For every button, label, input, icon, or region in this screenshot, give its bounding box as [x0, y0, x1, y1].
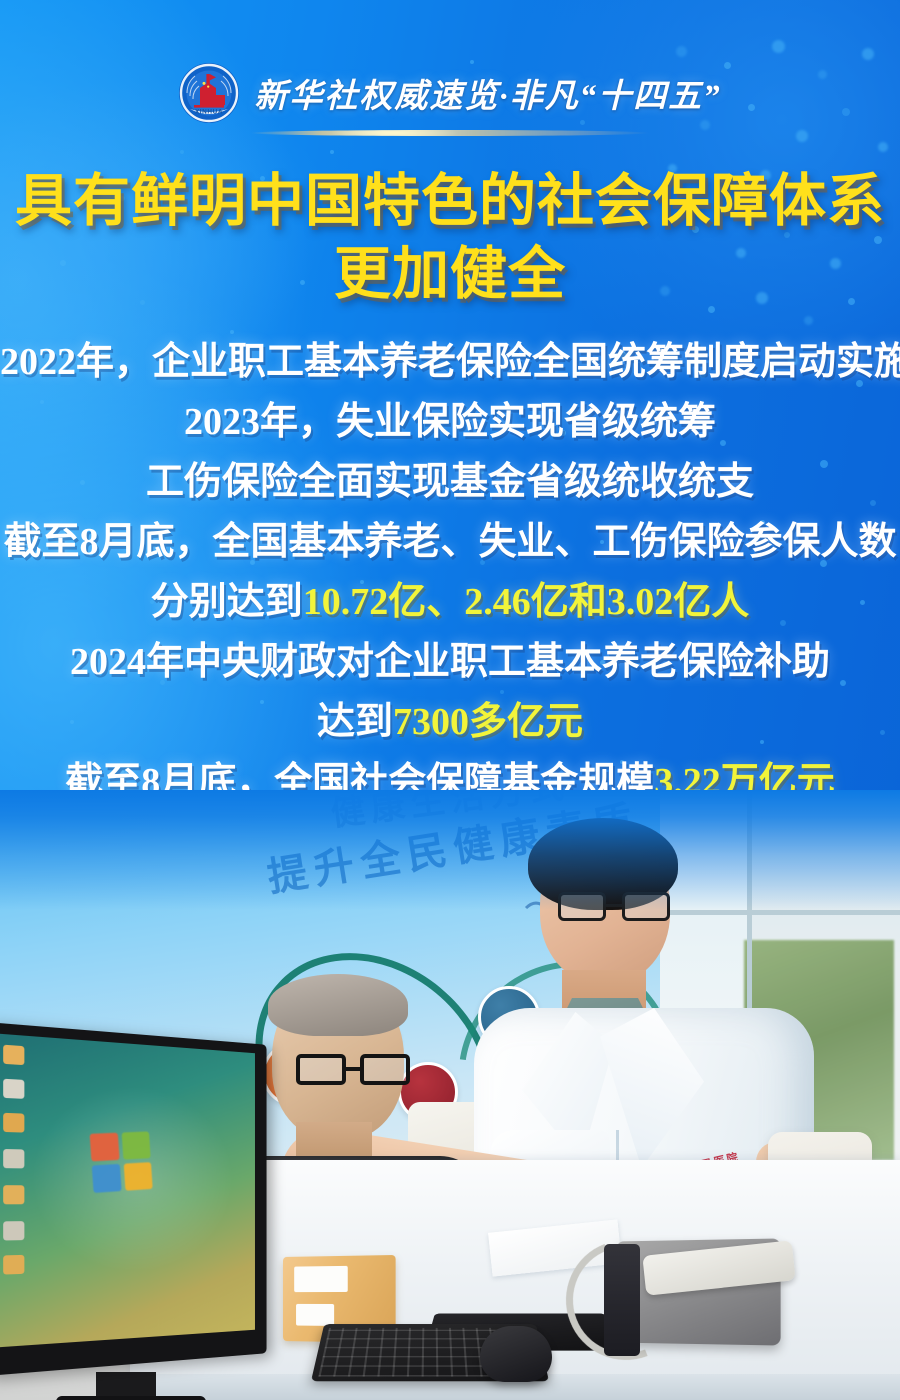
monitor-screen[interactable] [0, 1033, 255, 1347]
patient-lens-left [296, 1054, 346, 1085]
computer-mouse[interactable] [480, 1326, 552, 1382]
computer-monitor [0, 1022, 267, 1377]
xinhua-emblem-icon: XINHUA [178, 62, 240, 124]
patient-lens-right [360, 1054, 410, 1085]
bokeh-dot [878, 142, 888, 152]
body-line-7-segment-2: 7300多亿元 [393, 701, 583, 743]
body-line-3-segment-1: 工伤保险全面实现基金省级统收统支 [146, 461, 754, 503]
desktop-icon-6[interactable] [3, 1221, 24, 1240]
body-line-5-segment-1: 分别达到 [151, 581, 303, 623]
logo-wordmark: XINHUA [195, 109, 223, 116]
windows-logo-icon [90, 1131, 153, 1193]
bokeh-dot [796, 130, 808, 142]
brand-title: 新华社权威速览·非凡“十四五” [254, 69, 721, 117]
body-line-2-segment-1: 2023年，失业保险实现省级统筹 [184, 401, 716, 443]
bokeh-dot [180, 150, 184, 154]
body-line-4-segment-1: 截至8月底，全国基本养老、失业、工伤保险参保人数 [3, 521, 896, 563]
body-line-6-segment-1: 2024年中央财政对企业职工基本养老保险补助 [70, 641, 830, 683]
body-line-5-segment-2: 10.72亿、2.46亿和3.02亿人 [303, 581, 750, 623]
bokeh-dot [230, 330, 234, 334]
body-text-block: 2022年，企业职工基本养老保险全国统筹制度启动实施2023年，失业保险实现省级… [0, 343, 900, 823]
clinic-photograph: 健康生活方式 提升全民健康素质 [0, 790, 900, 1400]
device-label-1 [294, 1266, 348, 1292]
golden-divider [250, 130, 650, 136]
patient-hair [268, 974, 408, 1036]
desktop-icon-4[interactable] [3, 1149, 24, 1168]
bokeh-dot [676, 46, 687, 57]
desktop-icon-1[interactable] [3, 1045, 24, 1065]
body-line-6: 2024年中央财政对企业职工基本养老保险补助 [0, 643, 900, 681]
photo-top-fade [0, 790, 900, 910]
blood-pressure-strap [604, 1244, 640, 1356]
device-label-2 [296, 1304, 334, 1326]
bokeh-dot [772, 40, 785, 53]
body-line-4: 截至8月底，全国基本养老、失业、工伤保险参保人数 [0, 523, 900, 561]
main-title-line-1: 具有鲜明中国特色的社会保障体系 [0, 165, 900, 238]
header: XINHUA 新华社权威速览·非凡“十四五” [0, 58, 900, 128]
patient-glasses-icon [296, 1054, 410, 1086]
desktop-icon-5[interactable] [3, 1185, 24, 1204]
body-line-3: 工伤保险全面实现基金省级统收统支 [0, 463, 900, 501]
body-line-1-segment-1: 2022年，企业职工基本养老保险全国统筹制度启动实施 [0, 341, 900, 383]
monitor-base [56, 1396, 206, 1400]
desktop-icon-3[interactable] [3, 1113, 24, 1133]
poster-root: XINHUA 新华社权威速览·非凡“十四五” 具有鲜明中国特色的社会保障体系 更… [0, 0, 900, 1400]
main-title-line-2: 更加健全 [0, 238, 900, 311]
body-line-2: 2023年，失业保险实现省级统筹 [0, 403, 900, 441]
body-line-7: 达到7300多亿元 [0, 703, 900, 741]
body-line-1: 2022年，企业职工基本养老保险全国统筹制度启动实施 [0, 343, 900, 381]
desktop-icon-2[interactable] [3, 1079, 24, 1099]
bokeh-dot [330, 150, 334, 154]
patient-glasses-bridge [346, 1067, 360, 1071]
main-title: 具有鲜明中国特色的社会保障体系 更加健全 [0, 165, 900, 311]
body-line-5: 分别达到10.72亿、2.46亿和3.02亿人 [0, 583, 900, 621]
bokeh-dot [804, 316, 813, 325]
body-line-7-segment-1: 达到 [317, 701, 393, 743]
desktop-icon-7[interactable] [3, 1255, 24, 1275]
